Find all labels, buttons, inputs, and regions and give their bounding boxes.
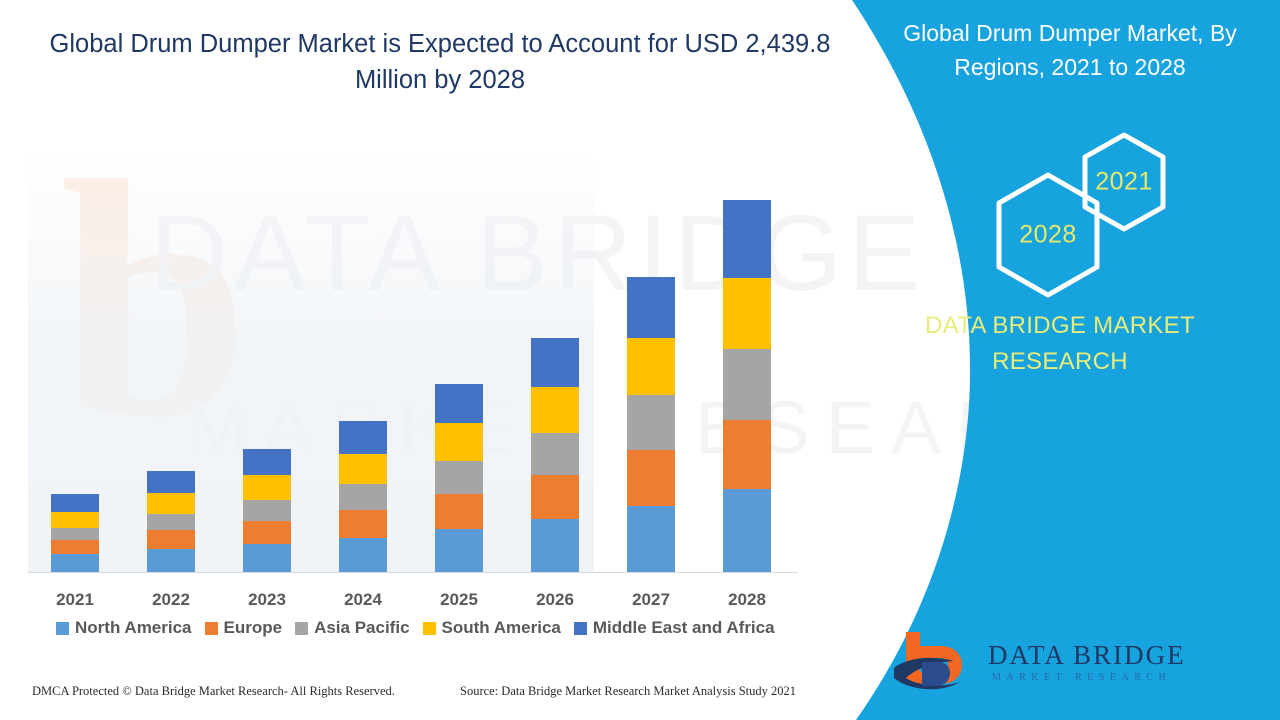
bar-2028: [723, 200, 771, 572]
bar-segment: [435, 461, 483, 494]
bar-segment: [147, 530, 195, 549]
x-axis-label-2024: 2024: [318, 590, 408, 610]
bar-segment: [243, 449, 291, 475]
chart-legend: North AmericaEuropeAsia PacificSouth Ame…: [56, 618, 846, 638]
bar-segment: [627, 450, 675, 505]
legend-swatch-icon: [56, 622, 69, 635]
legend-label: South America: [442, 618, 561, 638]
bar-segment: [723, 489, 771, 572]
brand-name: DATA BRIDGE MARKET RESEARCH: [870, 308, 1250, 380]
bar-2023: [243, 449, 291, 572]
x-axis-label-2025: 2025: [414, 590, 504, 610]
brand-pane: Global Drum Dumper Market, By Regions, 2…: [820, 0, 1280, 720]
bar-2025: [435, 384, 483, 572]
bar-2022: [147, 471, 195, 572]
data-bridge-logo-wordmark: DATA BRIDGE: [988, 640, 1186, 670]
bar-2021: [51, 494, 99, 572]
bar-segment: [243, 544, 291, 572]
bar-segment: [243, 475, 291, 500]
footer-source: Source: Data Bridge Market Research Mark…: [460, 684, 796, 699]
hex-badge-2028-label: 2028: [990, 221, 1106, 250]
legend-item-south-america[interactable]: South America: [423, 618, 561, 638]
bar-segment: [627, 395, 675, 450]
bar-segment: [435, 384, 483, 423]
legend-item-north-america[interactable]: North America: [56, 618, 192, 638]
bar-segment: [627, 277, 675, 338]
brand-pane-content: Global Drum Dumper Market, By Regions, 2…: [820, 0, 1280, 720]
bar-segment: [723, 278, 771, 349]
hex-badge-2028: 2028: [990, 170, 1106, 300]
x-axis-labels: 20212022202320242025202620272028: [0, 590, 800, 614]
legend-swatch-icon: [205, 622, 218, 635]
bar-segment: [339, 538, 387, 572]
bar-2026: [531, 338, 579, 572]
bar-segment: [531, 475, 579, 519]
bar-segment: [243, 521, 291, 544]
bar-segment: [531, 338, 579, 387]
bar-segment: [51, 512, 99, 529]
data-bridge-logo[interactable]: DATA BRIDGE MARKET RESEARCH: [892, 628, 1212, 700]
bar-segment: [243, 500, 291, 521]
x-axis-label-2028: 2028: [702, 590, 792, 610]
bar-segment: [147, 471, 195, 493]
x-axis-label-2022: 2022: [126, 590, 216, 610]
data-bridge-logo-subwordmark: MARKET RESEARCH: [992, 672, 1171, 683]
x-axis-label-2023: 2023: [222, 590, 312, 610]
bar-segment: [147, 549, 195, 572]
infographic-canvas: b DATA BRIDGE MARKET RESEARCH Global Dru…: [0, 0, 1280, 720]
bar-segment: [435, 423, 483, 460]
stacked-bar-chart: 20212022202320242025202620272028 North A…: [0, 0, 880, 720]
x-axis-label-2027: 2027: [606, 590, 696, 610]
bar-segment: [147, 493, 195, 514]
bar-segment: [339, 484, 387, 510]
data-bridge-logo-mark-icon: [892, 628, 978, 698]
bar-segment: [627, 506, 675, 573]
bar-segment: [723, 420, 771, 489]
x-axis-label-2026: 2026: [510, 590, 600, 610]
bar-segment: [147, 514, 195, 531]
bar-segment: [723, 349, 771, 421]
footer-copyright: DMCA Protected © Data Bridge Market Rese…: [32, 684, 395, 699]
bar-segment: [627, 338, 675, 395]
bar-2027: [627, 277, 675, 572]
chart-pane: b DATA BRIDGE MARKET RESEARCH Global Dru…: [0, 0, 880, 720]
legend-label: Middle East and Africa: [593, 618, 775, 638]
bar-2024: [339, 421, 387, 572]
legend-item-middle-east-and-africa[interactable]: Middle East and Africa: [574, 618, 775, 638]
bar-segment: [51, 494, 99, 512]
bar-segment: [339, 510, 387, 538]
bar-segment: [339, 454, 387, 484]
legend-item-europe[interactable]: Europe: [205, 618, 283, 638]
legend-swatch-icon: [423, 622, 436, 635]
brand-pane-title: Global Drum Dumper Market, By Regions, 2…: [875, 16, 1265, 84]
bar-segment: [531, 519, 579, 572]
bar-segment: [51, 540, 99, 555]
bar-segment: [51, 528, 99, 539]
bar-segment: [435, 529, 483, 572]
bar-segment: [51, 554, 99, 572]
bar-segment: [531, 433, 579, 476]
legend-item-asia-pacific[interactable]: Asia Pacific: [295, 618, 409, 638]
hex-badge-group: 2021 2028: [970, 130, 1200, 280]
legend-label: Europe: [224, 618, 283, 638]
bar-segment: [723, 200, 771, 278]
bar-segment: [339, 421, 387, 453]
legend-label: Asia Pacific: [314, 618, 409, 638]
x-axis-label-2021: 2021: [30, 590, 120, 610]
legend-swatch-icon: [295, 622, 308, 635]
legend-swatch-icon: [574, 622, 587, 635]
bar-segment: [435, 494, 483, 529]
legend-label: North America: [75, 618, 192, 638]
bar-segment: [531, 387, 579, 433]
